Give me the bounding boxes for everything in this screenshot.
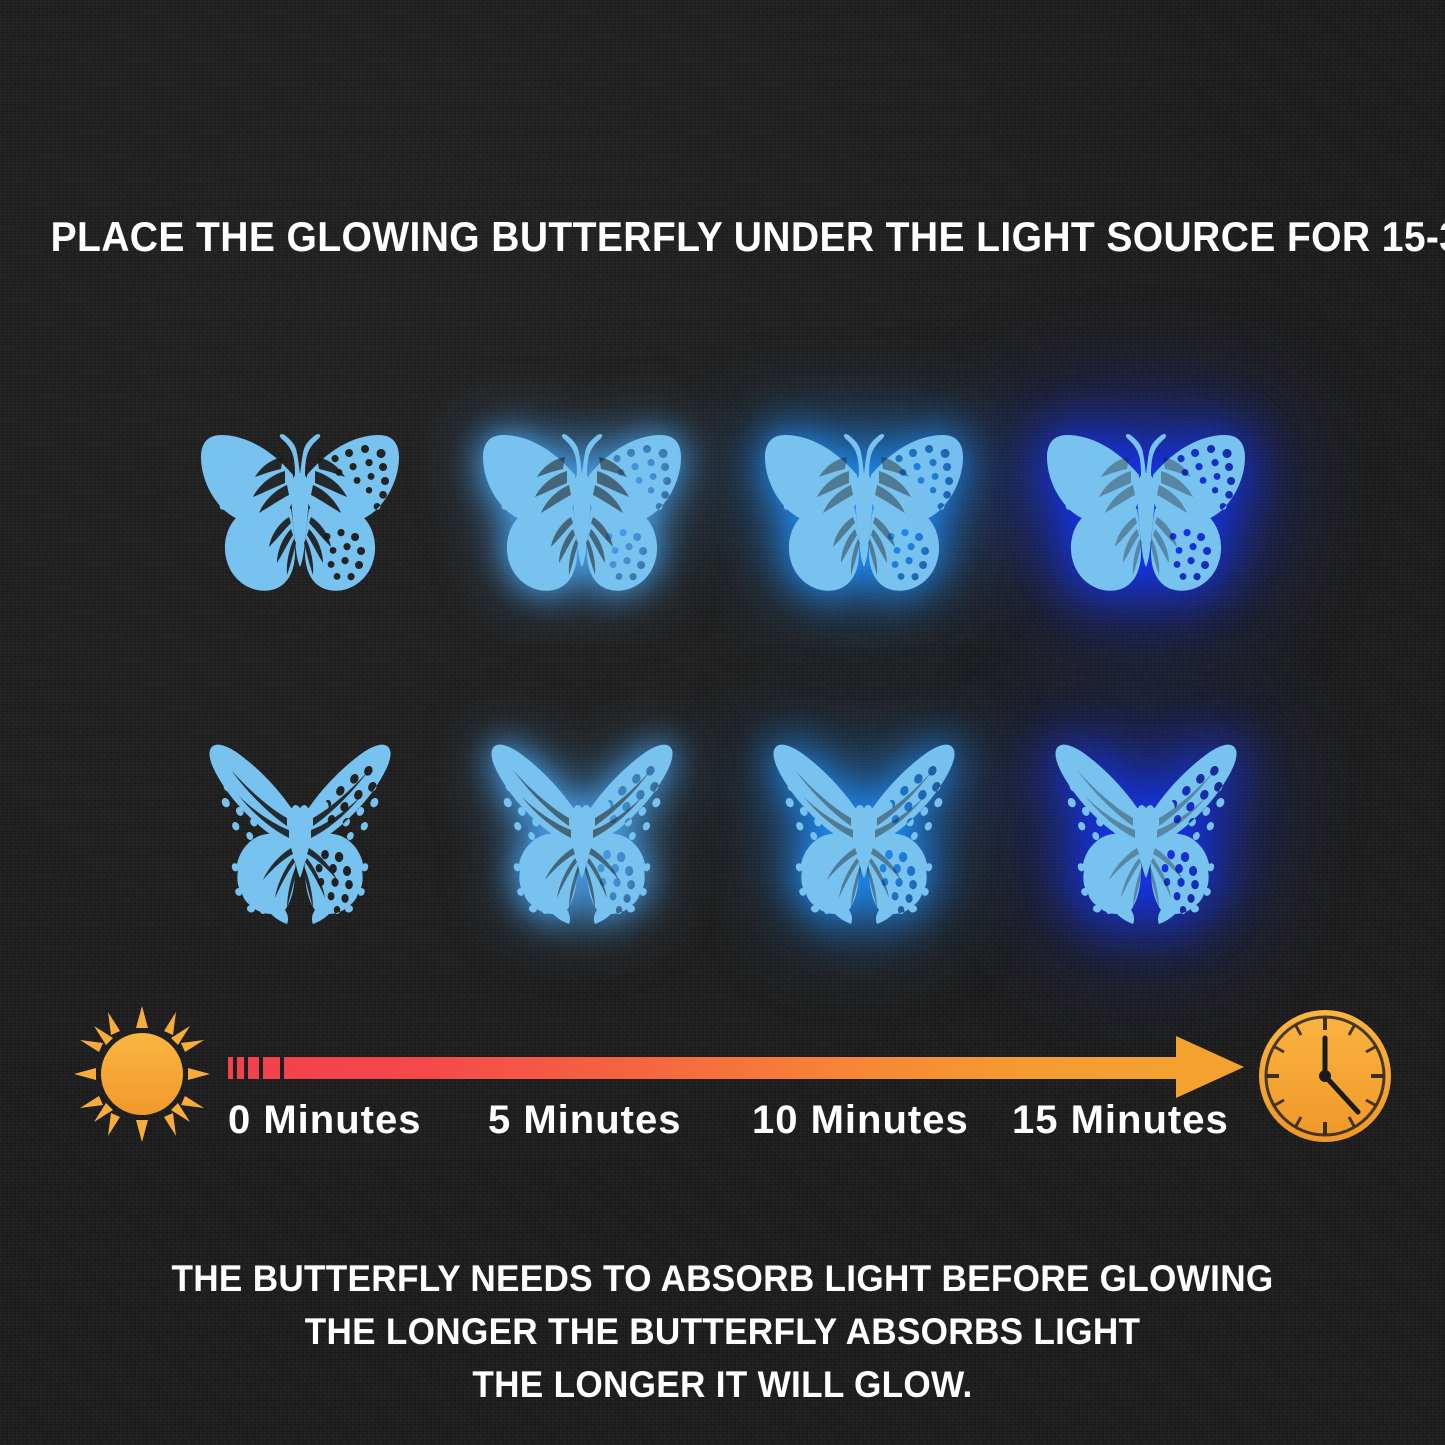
butterfly-monarch-icon [457,413,707,613]
arrow-dash [263,1057,280,1079]
tick-label-5-minutes: 5 Minutes [488,1098,681,1143]
butterfly-swallowtail-icon [739,712,989,942]
butterfly-monarch-stage-1 [159,398,441,628]
butterfly-swallowtail-icon [175,712,425,942]
butterfly-swallowtail-icon [457,712,707,942]
footer-line-1: THE BUTTERFLY NEEDS TO ABSORB LIGHT BEFO… [36,1252,1409,1305]
arrow-bar [290,1057,1180,1079]
instruction-subtitle: PLACE THE GLOWING BUTTERFLY UNDER THE LI… [51,213,1395,261]
butterfly-swallowtail-stage-4 [1005,712,1287,942]
butterfly-monarch-icon [1021,413,1271,613]
butterfly-swallowtail-stage-3 [723,712,1005,942]
butterfly-monarch-stage-4 [1005,398,1287,628]
butterfly-row-monarch [0,398,1445,628]
tick-label-0-minutes: 0 Minutes [228,1098,421,1143]
title-container: Instructions For Use [0,58,1445,157]
butterfly-monarch-icon [739,413,989,613]
tick-label-10-minutes: 10 Minutes [752,1098,969,1143]
arrow-head-icon [1176,1036,1244,1098]
timeline-tick-labels: 0 Minutes 5 Minutes 10 Minutes 15 Minute… [0,1098,1445,1158]
page-title: Instructions For Use [347,58,1098,157]
butterfly-row-swallowtail [0,712,1445,942]
butterfly-monarch-stage-2 [441,398,723,628]
footer-text: THE BUTTERFLY NEEDS TO ABSORB LIGHT BEFO… [0,1252,1445,1411]
butterfly-swallowtail-icon [1021,712,1271,942]
time-arrow [228,1046,1244,1092]
tick-label-15-minutes: 15 Minutes [1012,1098,1229,1143]
arrow-dash [237,1057,244,1079]
butterfly-swallowtail-stage-2 [441,712,723,942]
footer-line-2: THE LONGER THE BUTTERFLY ABSORBS LIGHT [36,1305,1409,1358]
butterfly-monarch-stage-3 [723,398,1005,628]
butterfly-monarch-icon [175,413,425,613]
footer-line-3: THE LONGER IT WILL GLOW. [36,1358,1409,1411]
butterfly-swallowtail-stage-1 [159,712,441,942]
arrow-dash [248,1057,259,1079]
arrow-dash [228,1057,233,1079]
